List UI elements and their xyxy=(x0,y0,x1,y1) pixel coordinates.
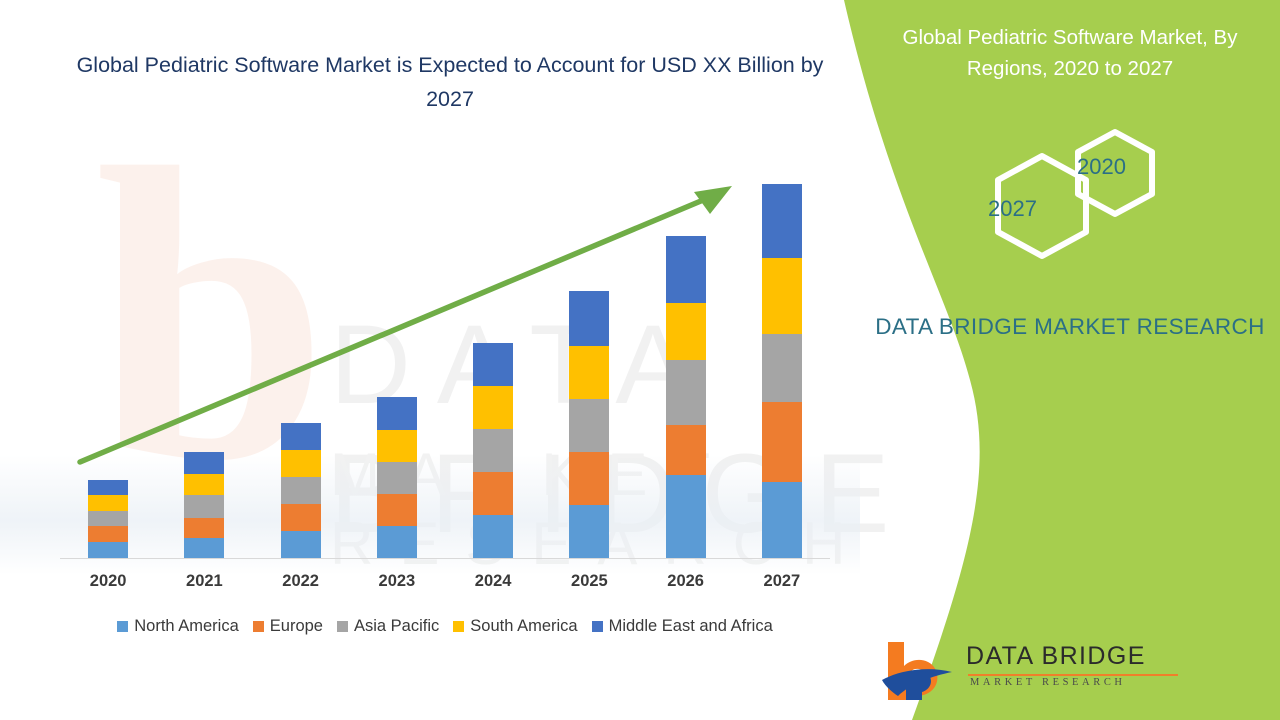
bar-segment xyxy=(377,526,417,558)
bar-2024 xyxy=(473,343,513,558)
bar-segment xyxy=(762,184,802,258)
brand-name: DATA BRIDGE MARKET RESEARCH xyxy=(860,310,1280,343)
legend-item[interactable]: Asia Pacific xyxy=(337,617,439,636)
bar-segment xyxy=(184,474,224,495)
hexagon-2020-label: 2020 xyxy=(1077,154,1126,180)
bar-2022 xyxy=(281,423,321,558)
x-axis-tick-2023: 2023 xyxy=(367,572,427,591)
legend-swatch xyxy=(117,621,128,632)
bar-segment xyxy=(377,430,417,462)
bar-segment xyxy=(666,303,706,360)
bar-segment xyxy=(666,360,706,425)
x-axis-tick-2026: 2026 xyxy=(656,572,716,591)
bar-segment xyxy=(569,452,609,505)
bar-segment xyxy=(569,399,609,452)
x-axis-tick-2022: 2022 xyxy=(271,572,331,591)
bar-segment xyxy=(666,475,706,558)
stacked-bar-chart xyxy=(60,170,830,558)
legend-swatch xyxy=(592,621,603,632)
slide-canvas: b DATA BRIDGE MARKET RESEARCH Global Ped… xyxy=(0,0,1280,720)
bar-segment xyxy=(473,429,513,472)
bar-segment xyxy=(184,452,224,474)
bar-segment xyxy=(473,343,513,386)
legend-label: Asia Pacific xyxy=(354,617,439,636)
x-axis-tick-2021: 2021 xyxy=(174,572,234,591)
legend-item[interactable]: Middle East and Africa xyxy=(592,617,773,636)
bar-segment xyxy=(377,462,417,494)
bar-segment xyxy=(473,472,513,515)
logo-subtitle: MARKET RESEARCH xyxy=(970,677,1126,688)
bar-segment xyxy=(473,515,513,558)
bar-segment xyxy=(377,397,417,430)
bar-segment xyxy=(281,504,321,531)
legend-label: North America xyxy=(134,617,239,636)
bar-segment xyxy=(569,505,609,558)
bar-segment xyxy=(569,291,609,346)
legend-item[interactable]: South America xyxy=(453,617,577,636)
bar-segment xyxy=(88,495,128,511)
panel-title: Global Pediatric Software Market, By Reg… xyxy=(875,22,1265,84)
legend-label: South America xyxy=(470,617,577,636)
hexagon-group: 2027 2020 xyxy=(960,128,1190,293)
bar-segment xyxy=(377,494,417,526)
legend-item[interactable]: North America xyxy=(117,617,239,636)
green-panel-shape xyxy=(820,0,1280,720)
bar-segment xyxy=(88,526,128,542)
bar-segment xyxy=(88,480,128,495)
bar-segment xyxy=(88,511,128,526)
bar-segment xyxy=(281,423,321,450)
logo-mark-icon xyxy=(880,636,960,702)
x-axis-line xyxy=(60,558,830,559)
hexagon-2027-label: 2027 xyxy=(988,196,1037,222)
legend-label: Middle East and Africa xyxy=(609,617,773,636)
bar-segment xyxy=(281,477,321,504)
legend-swatch xyxy=(253,621,264,632)
data-bridge-logo: DATA BRIDGE MARKET RESEARCH xyxy=(880,636,1230,702)
bar-2027 xyxy=(762,184,802,558)
bar-segment xyxy=(281,531,321,558)
bar-2021 xyxy=(184,452,224,558)
bar-segment xyxy=(762,482,802,558)
bar-segment xyxy=(184,518,224,538)
bar-segment xyxy=(184,495,224,518)
x-axis-tick-2027: 2027 xyxy=(752,572,812,591)
bar-2026 xyxy=(666,236,706,558)
brand-panel: Global Pediatric Software Market, By Reg… xyxy=(820,0,1280,720)
bar-segment xyxy=(473,386,513,429)
bar-2020 xyxy=(88,480,128,558)
logo-divider xyxy=(968,674,1178,676)
legend-swatch xyxy=(337,621,348,632)
bar-segment xyxy=(762,402,802,482)
bar-segment xyxy=(569,346,609,399)
x-axis-tick-2024: 2024 xyxy=(463,572,523,591)
bar-segment xyxy=(281,450,321,477)
bar-2023 xyxy=(377,397,417,558)
bar-2025 xyxy=(569,291,609,558)
bar-segment xyxy=(762,258,802,334)
x-axis-labels: 20202021202220232024202520262027 xyxy=(60,568,830,594)
chart-title: Global Pediatric Software Market is Expe… xyxy=(70,48,830,116)
bar-segment xyxy=(184,538,224,558)
chart-legend: North AmericaEuropeAsia PacificSouth Ame… xyxy=(60,617,830,636)
legend-label: Europe xyxy=(270,617,323,636)
bar-segment xyxy=(88,542,128,558)
legend-swatch xyxy=(453,621,464,632)
bar-segment xyxy=(762,334,802,402)
x-axis-tick-2020: 2020 xyxy=(78,572,138,591)
logo-title: DATA BRIDGE xyxy=(966,642,1146,671)
bar-segment xyxy=(666,236,706,303)
bar-segment xyxy=(666,425,706,475)
x-axis-tick-2025: 2025 xyxy=(559,572,619,591)
legend-item[interactable]: Europe xyxy=(253,617,323,636)
